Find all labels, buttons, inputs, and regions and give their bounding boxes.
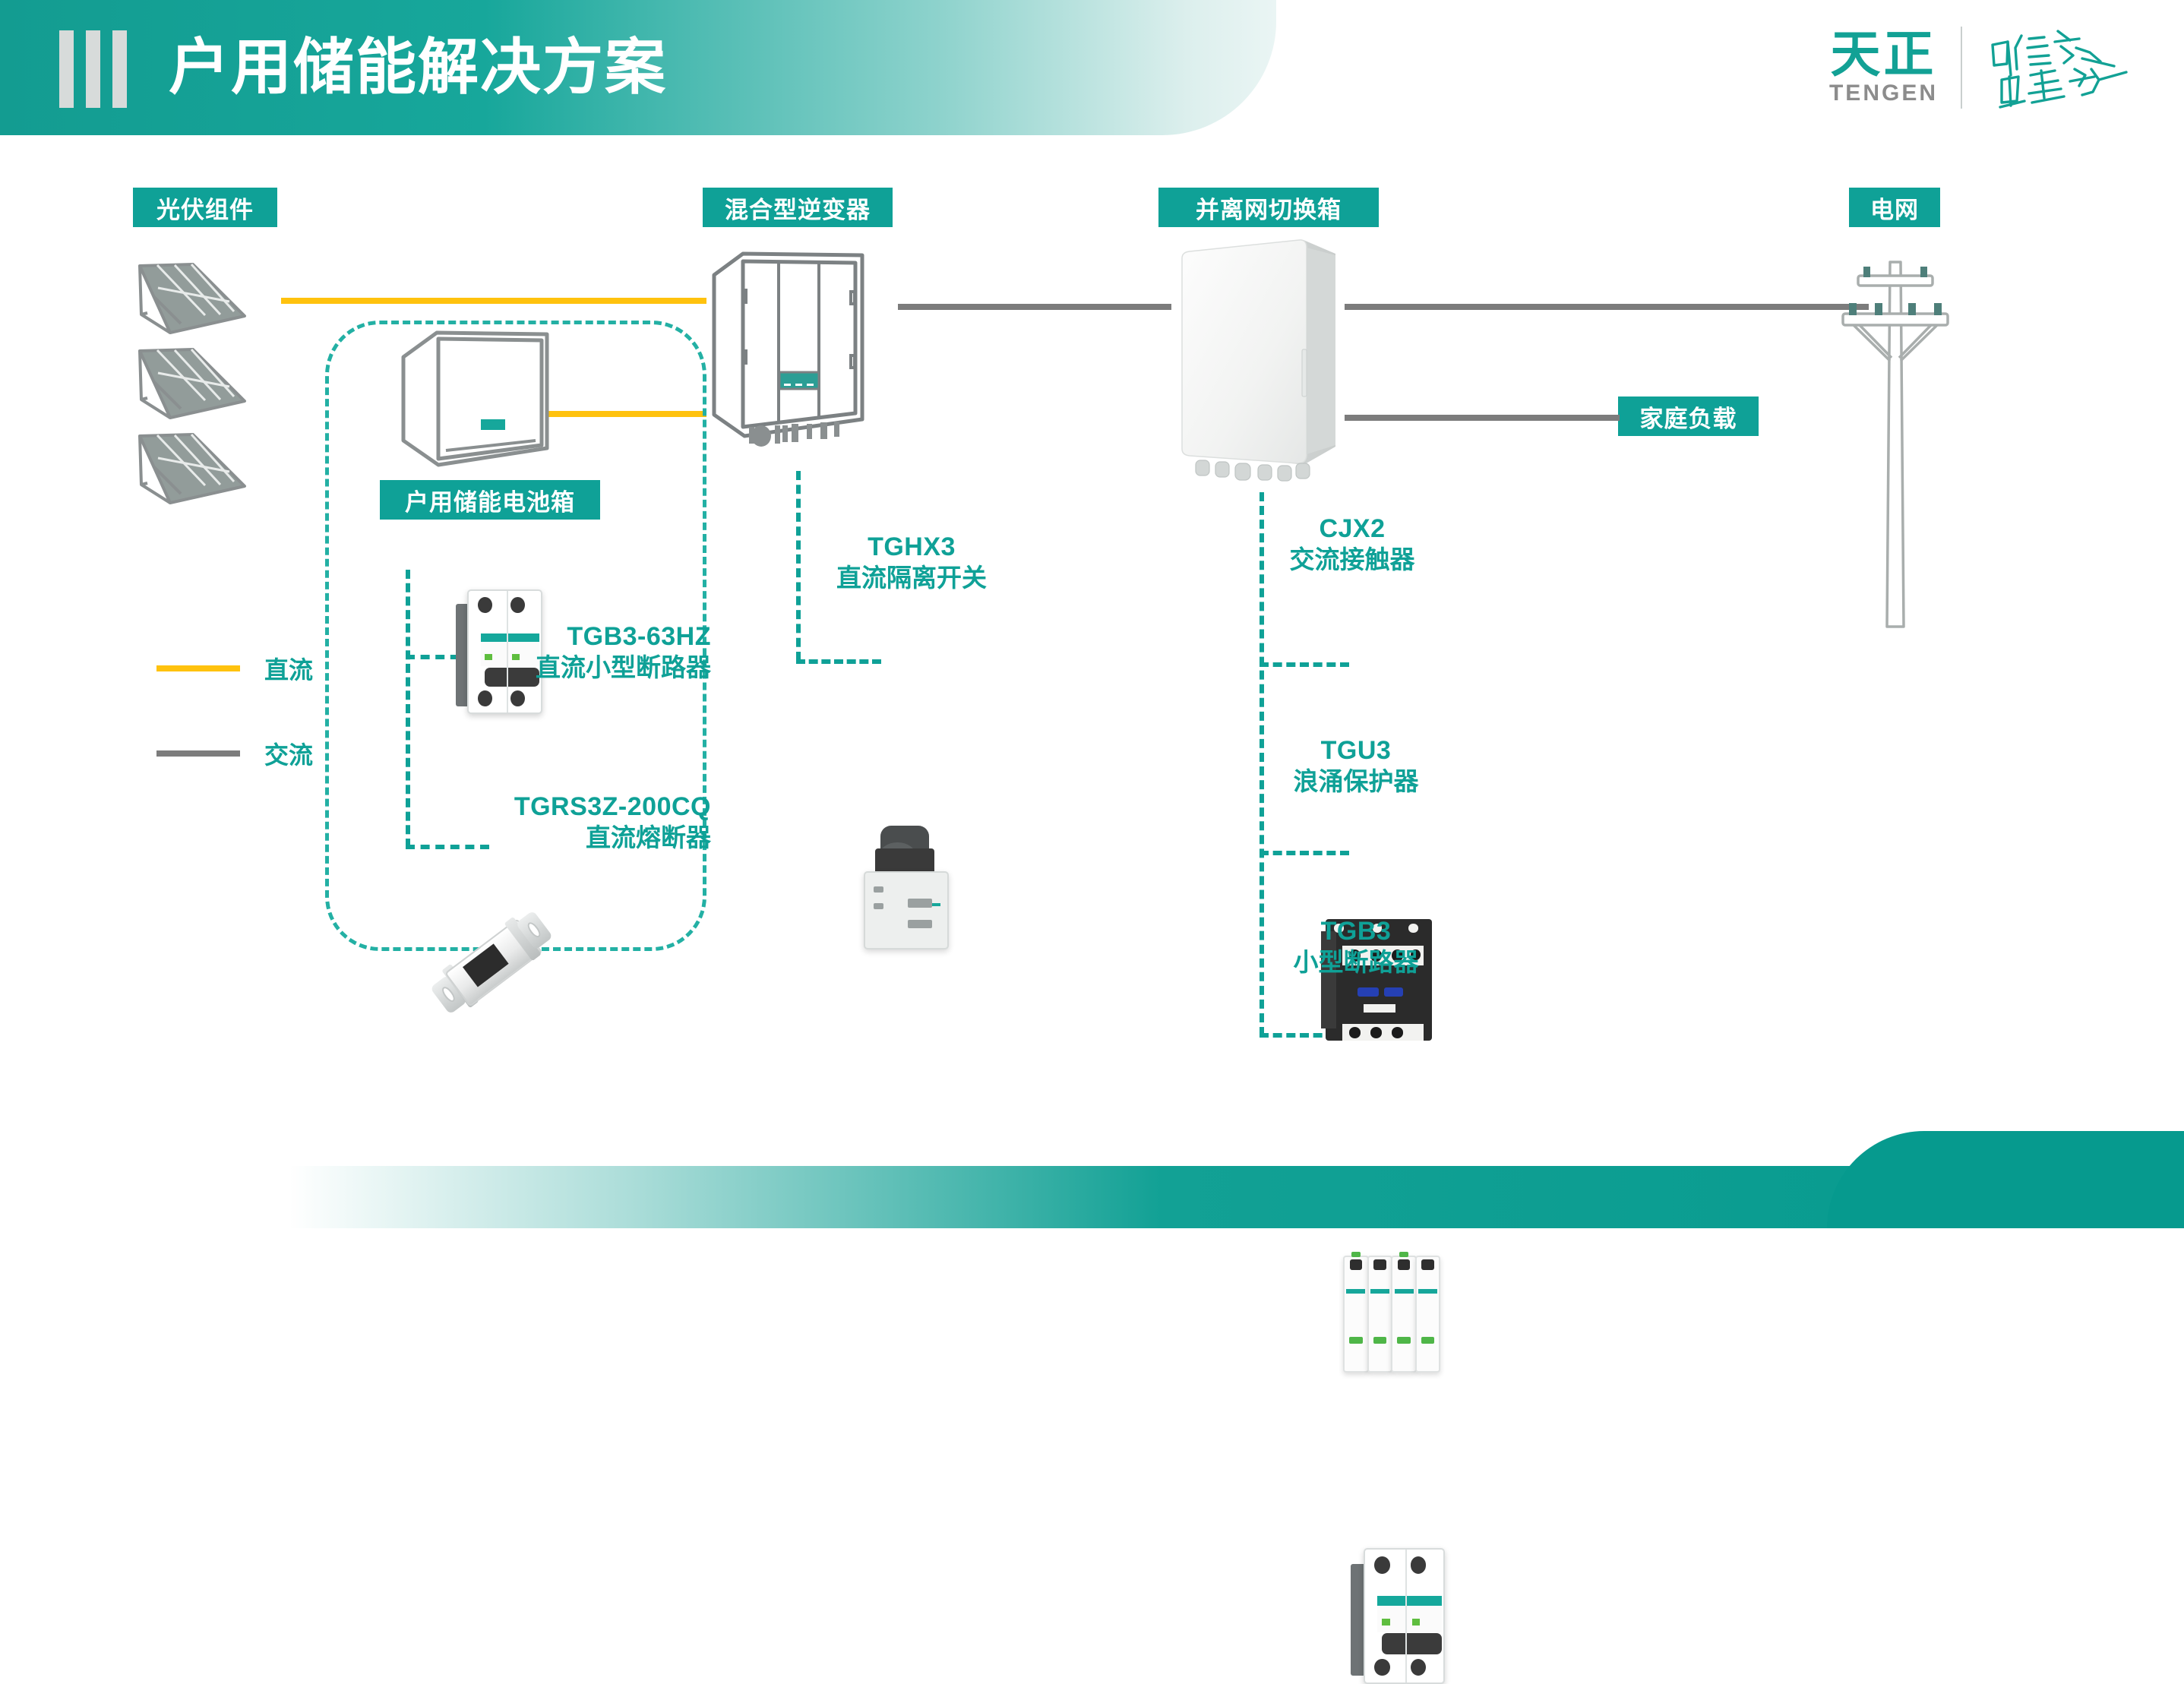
slogan-icon [1985, 22, 2137, 113]
brand-logo: 天正 TENGEN [1829, 21, 2137, 114]
caption-dc-isolator-model: TGHX3 [805, 532, 1018, 563]
product-image-ac-mcb [1351, 1548, 1442, 1681]
caption-ac-contactor-model: CJX2 [1246, 513, 1459, 545]
caption-dc-mcb-model: TGB3-63HZ [524, 621, 711, 652]
callout-line-inverter-vertical [796, 471, 801, 661]
utility-pole-illustration [1838, 247, 1952, 646]
diagram-canvas: 户用储能解决方案 天正 TENGEN [0, 0, 2184, 1228]
pv-panel-1 [131, 258, 245, 346]
page-title: 户用储能解决方案 [169, 26, 667, 109]
wire-dc-pv-to-inverter [281, 298, 706, 304]
footer-curve [1827, 1131, 2184, 1228]
callout-line-dc-fuse [406, 845, 489, 849]
product-image-spd [1343, 1256, 1437, 1370]
caption-dc-mcb-desc: 直流小型断路器 [524, 652, 711, 683]
label-transfer-switch-box: 并离网切换箱 [1158, 188, 1379, 227]
callout-line-contactor [1260, 662, 1349, 667]
hybrid-inverter-illustration [706, 245, 896, 461]
wire-ac-switchbox-to-grid [1345, 304, 1869, 310]
legend: 直流 交流 [156, 647, 313, 775]
legend-item-ac: 交流 [156, 732, 313, 775]
brand-slogan-handwriting [1985, 22, 2137, 113]
wire-ac-inverter-to-switchbox [898, 304, 1171, 310]
caption-spd-desc: 浪涌保护器 [1253, 766, 1459, 797]
caption-spd: TGU3 浪涌保护器 [1253, 735, 1459, 798]
caption-dc-mcb: TGB3-63HZ 直流小型断路器 [524, 621, 711, 684]
logo-english-name: TENGEN [1829, 81, 1938, 106]
label-utility-grid: 电网 [1849, 188, 1940, 227]
caption-ac-mcb-model: TGB3 [1253, 916, 1459, 947]
label-home-load: 家庭负载 [1618, 397, 1759, 436]
page-header: 户用储能解决方案 [0, 0, 1276, 135]
caption-dc-isolator: TGHX3 直流隔离开关 [805, 532, 1018, 594]
page-footer [0, 1131, 2184, 1228]
caption-dc-fuse-desc: 直流熔断器 [501, 823, 711, 853]
caption-dc-isolator-desc: 直流隔离开关 [805, 563, 1018, 593]
legend-item-dc: 直流 [156, 647, 313, 690]
pv-panel-2 [131, 343, 245, 431]
wire-ac-switchbox-to-load [1345, 415, 1620, 421]
header-bars-icon [59, 30, 127, 108]
caption-spd-model: TGU3 [1253, 735, 1459, 766]
logo-chinese-name: 天正 [1830, 29, 1936, 79]
product-image-dc-isolator [858, 820, 951, 949]
label-pv-array: 光伏组件 [133, 188, 277, 227]
logo-divider [1961, 27, 1962, 109]
legend-label-ac: 交流 [264, 736, 313, 771]
caption-ac-mcb: TGB3 小型断路器 [1253, 916, 1459, 978]
caption-ac-mcb-desc: 小型断路器 [1253, 947, 1459, 978]
legend-swatch-dc [156, 665, 240, 671]
caption-ac-contactor: CJX2 交流接触器 [1246, 513, 1459, 576]
caption-dc-fuse: TGRS3Z-200CQ 直流熔断器 [501, 791, 711, 854]
legend-swatch-ac [156, 750, 240, 757]
pv-panel-3 [131, 428, 245, 516]
callout-line-battery-vertical [406, 570, 410, 848]
label-hybrid-inverter: 混合型逆变器 [703, 188, 893, 227]
callout-line-spd [1260, 851, 1349, 855]
legend-label-dc: 直流 [264, 651, 313, 686]
logo-mark: 天正 TENGEN [1829, 29, 1938, 106]
transfer-switch-box-illustration [1176, 235, 1343, 490]
battery-cabinet-illustration [391, 327, 555, 482]
caption-dc-fuse-model: TGRS3Z-200CQ [501, 791, 711, 823]
callout-line-dc-isolator [796, 659, 881, 664]
caption-ac-contactor-desc: 交流接触器 [1246, 545, 1459, 575]
